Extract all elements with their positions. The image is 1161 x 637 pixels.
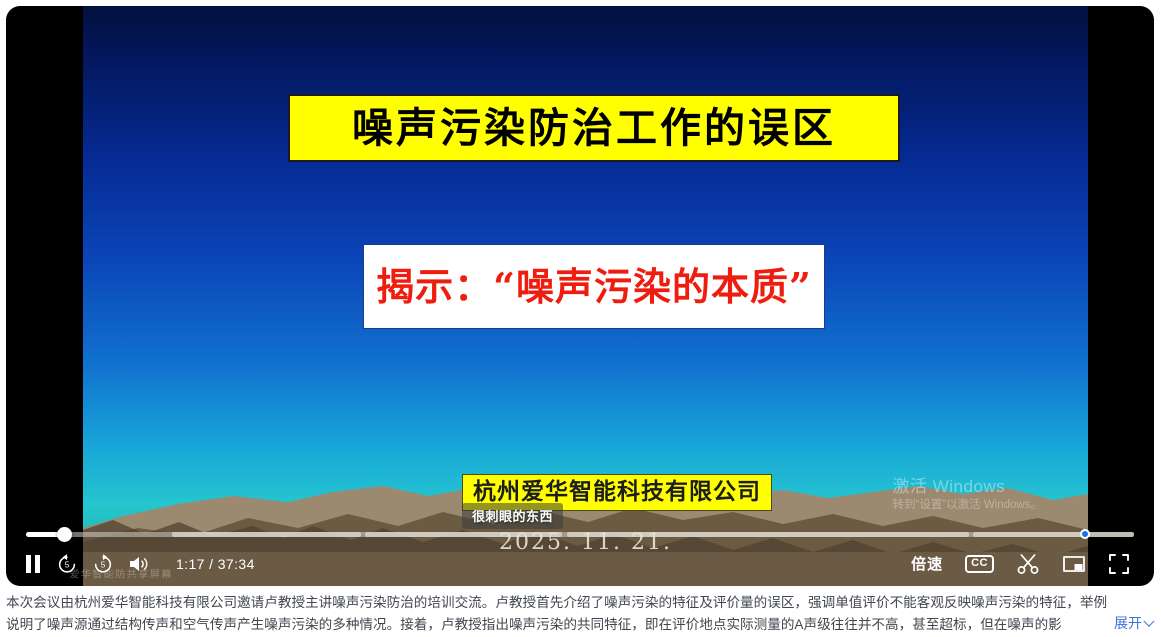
description-line-1: 本次会议由杭州爱华智能科技有限公司邀请卢教授主讲噪声污染防治的培训交流。卢教授首… — [6, 592, 1155, 614]
scissors-clip-icon[interactable] — [1016, 553, 1040, 575]
chapter-segment — [172, 532, 360, 537]
progress-handle[interactable] — [57, 527, 72, 542]
pause-button[interactable] — [24, 554, 42, 574]
control-bar: 5 5 — [6, 541, 1154, 586]
control-bar-left: 5 5 — [6, 553, 255, 575]
forward-5-icon[interactable]: 5 — [92, 553, 114, 575]
volume-icon[interactable] — [128, 554, 152, 574]
chapter-segment — [365, 532, 562, 537]
slide-stage: 噪声污染防治工作的误区 揭示：“噪声污染的本质” 杭州爱华智能科技有限公司 20… — [83, 6, 1088, 586]
fullscreen-icon[interactable] — [1108, 553, 1130, 575]
slide-subtitle: 揭示：“噪声污染的本质” — [376, 268, 812, 306]
video-player[interactable]: 噪声污染防治工作的误区 揭示：“噪声污染的本质” 杭州爱华智能科技有限公司 20… — [6, 6, 1154, 586]
description-line-2: 说明了噪声源通过结构传声和空气传声产生噪声污染的多种情况。接着，卢教授指出噪声污… — [6, 614, 1155, 636]
svg-text:5: 5 — [101, 560, 106, 569]
svg-text:5: 5 — [65, 560, 70, 569]
chapter-segment — [973, 532, 1134, 537]
expand-description-button[interactable]: 展开 — [1100, 613, 1153, 635]
playback-speed-button[interactable]: 倍速 — [911, 553, 943, 574]
progress-hover-indicator[interactable] — [1080, 529, 1090, 539]
video-description: 本次会议由杭州爱华智能科技有限公司邀请卢教授主讲噪声污染防治的培训交流。卢教授首… — [0, 592, 1161, 635]
expand-label: 展开 — [1114, 613, 1142, 635]
progress-track[interactable] — [26, 532, 1134, 537]
slide-subtitle-box: 揭示：“噪声污染的本质” — [363, 244, 825, 329]
captions-cc-icon[interactable]: CC — [965, 555, 994, 573]
progress-bar[interactable] — [26, 527, 1134, 541]
video-page: 噪声污染防治工作的误区 揭示：“噪声污染的本质” 杭州爱华智能科技有限公司 20… — [0, 0, 1161, 637]
chapter-segment — [567, 532, 969, 537]
slide-title-box: 噪声污染防治工作的误区 — [288, 94, 900, 162]
time-display: 1:17 / 37:34 — [176, 556, 255, 572]
danmaku-comment: 很刺眼的东西 — [462, 503, 563, 529]
chevron-down-icon — [1143, 615, 1154, 626]
rewind-5-icon[interactable]: 5 — [56, 553, 78, 575]
slide-company-name: 杭州爱华智能科技有限公司 — [473, 478, 761, 505]
slide-title: 噪声污染防治工作的误区 — [352, 108, 836, 149]
control-bar-right: 倍速 CC — [911, 553, 1154, 575]
picture-in-picture-icon[interactable] — [1062, 554, 1086, 574]
